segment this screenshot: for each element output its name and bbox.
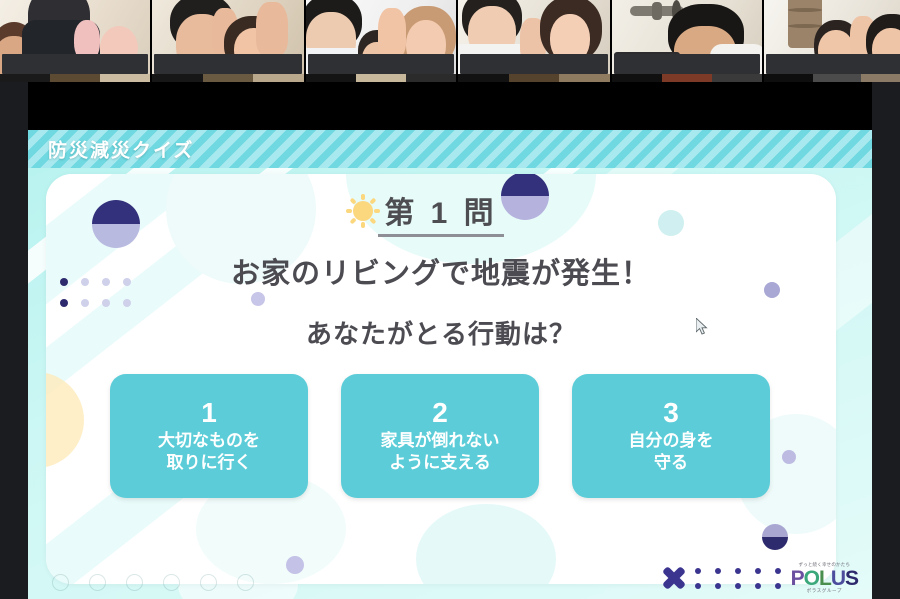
logo-letter-p: P	[791, 567, 804, 590]
tile-1-name-bar	[2, 54, 148, 74]
shared-screen-region: 防災減災クイズ	[28, 82, 872, 599]
slide-footer: ずっと続く幸せのかたち POLUS ポラスグループ	[663, 563, 858, 593]
tile-3-name-bar	[308, 54, 454, 74]
ghost-icon-pen	[126, 574, 143, 591]
answer-choice-list: 1 大切なものを 取りに行く 2 家具が倒れない ように支える 3 自分の身を …	[110, 374, 772, 498]
video-tile-4[interactable]	[458, 0, 612, 82]
tile-6-name-bar	[766, 54, 900, 74]
answer-3-line-2: 守る	[654, 452, 688, 474]
ghost-toolbar	[52, 574, 254, 591]
tile-5-name-bar	[614, 54, 760, 74]
tile-4-name-bar	[460, 54, 608, 74]
ghost-icon-search	[200, 574, 217, 591]
answer-2-line-2: ように支える	[389, 452, 491, 474]
slide-header-band: 防災減災クイズ	[28, 130, 872, 168]
video-tile-1[interactable]	[0, 0, 152, 82]
answer-choice-2[interactable]: 2 家具が倒れない ように支える	[341, 374, 539, 498]
mouse-cursor	[696, 318, 708, 336]
decor-dot-lavender-2	[782, 450, 796, 464]
ghost-icon-cloud	[237, 574, 254, 591]
question-line-2: あなたがとる行動は？	[46, 314, 836, 351]
slide-content-card: 第 1 問 お家のリビングで地震が発生！ あなたがとる行動は？ 1 大切なものを…	[46, 174, 836, 584]
zoom-meeting-window: 防災減災クイズ	[0, 0, 900, 599]
answer-3-line-1: 自分の身を	[629, 430, 714, 452]
video-tile-5[interactable]	[612, 0, 764, 82]
logo-letter-u: U	[831, 567, 845, 590]
answer-choice-3[interactable]: 3 自分の身を 守る	[572, 374, 770, 498]
logo-wordmark: POLUS	[791, 568, 858, 589]
question-number-label: 第 1 問	[378, 188, 503, 237]
tile-2-name-bar	[154, 54, 302, 74]
logo-letter-s: S	[845, 567, 858, 590]
ghost-icon-home	[163, 574, 180, 591]
x-mark-icon	[663, 567, 685, 589]
decor-half-circle-3	[762, 524, 788, 550]
question-number: 第 1 問	[46, 188, 836, 237]
video-tile-2[interactable]	[152, 0, 306, 82]
answer-1-line-1: 大切なものを	[158, 430, 260, 452]
video-tile-6[interactable]	[764, 0, 900, 82]
answer-1-line-2: 取りに行く	[167, 452, 252, 474]
answer-3-number: 3	[663, 398, 679, 427]
footer-dot-grid	[695, 568, 781, 589]
ghost-icon-refresh	[52, 574, 69, 591]
answer-1-number: 1	[201, 398, 217, 427]
answer-choice-1[interactable]: 1 大切なものを 取りに行く	[110, 374, 308, 498]
logo-letter-o: O	[804, 567, 819, 590]
decor-dot-lavender-4	[251, 292, 265, 306]
slide-header-title: 防災減災クイズ	[48, 136, 194, 163]
video-tile-3[interactable]	[306, 0, 458, 82]
polus-logo: ずっと続く幸せのかたち POLUS ポラスグループ	[791, 563, 858, 593]
logo-letter-l: L	[819, 567, 831, 590]
ghost-icon-play	[89, 574, 106, 591]
question-line-1: お家のリビングで地震が発生！	[46, 250, 836, 292]
participant-gallery-strip	[0, 0, 900, 82]
decor-dot-lavender-3	[286, 556, 304, 574]
answer-2-number: 2	[432, 398, 448, 427]
answer-2-line-1: 家具が倒れない	[381, 430, 500, 452]
presentation-slide: 防災減災クイズ	[28, 130, 872, 599]
